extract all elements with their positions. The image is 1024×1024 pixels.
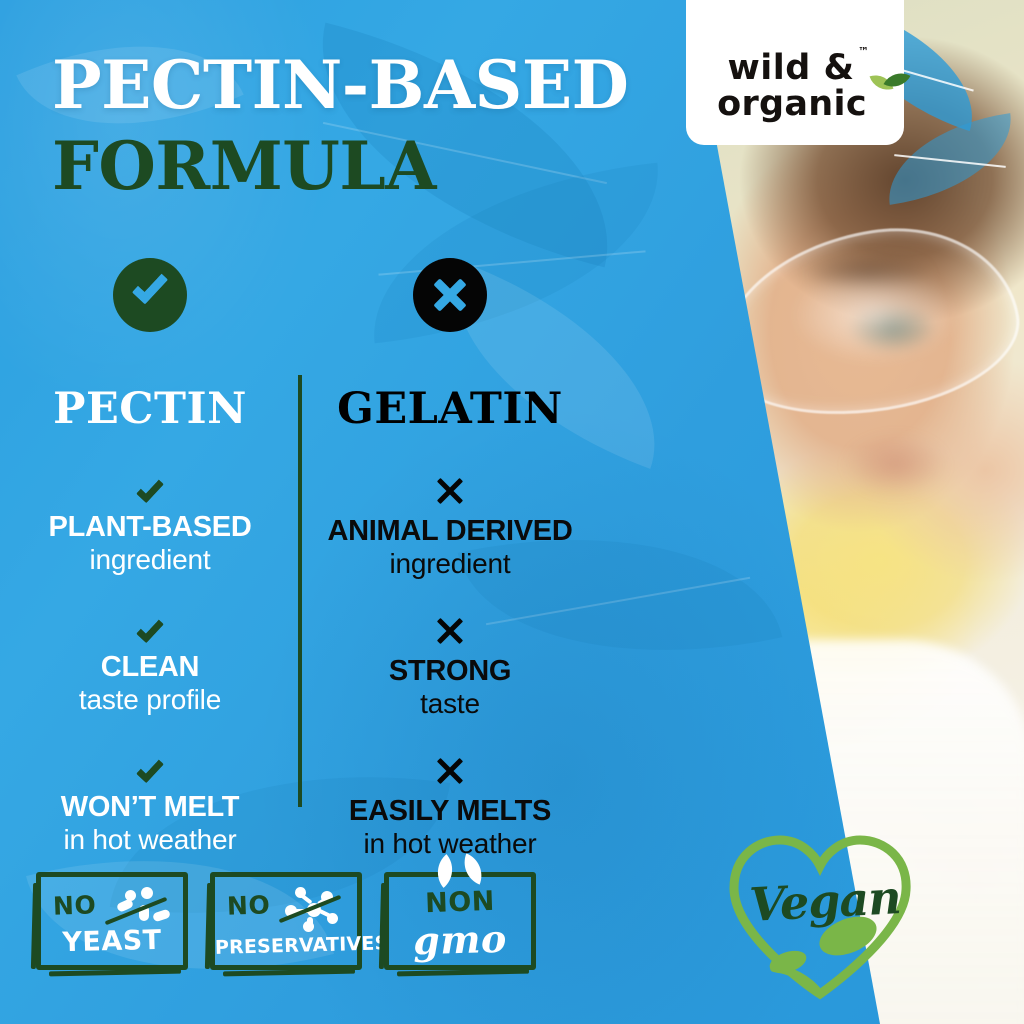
seal-no-preservatives: NO PRESERVATIVES bbox=[210, 872, 362, 970]
gmo-leaf-left bbox=[428, 854, 462, 888]
column-divider bbox=[298, 375, 302, 807]
seal-label-yeast: YEAST bbox=[41, 924, 184, 959]
cell-gelatin-1: ANIMAL DERIVED ingredient bbox=[300, 464, 600, 580]
column-title-gelatin: GELATIN bbox=[337, 384, 563, 434]
cell-gelatin-3: EASILY MELTS in hot weather bbox=[300, 744, 600, 860]
row-3-left-sub: in hot weather bbox=[63, 824, 236, 856]
page-title: PECTIN-BASED FORMULA bbox=[52, 52, 672, 203]
row-1-right-sub: ingredient bbox=[390, 548, 511, 580]
seal-no-yeast: NO YEAST bbox=[36, 872, 188, 970]
row-1-left-sub: ingredient bbox=[90, 544, 211, 576]
seal-prefix-gmo: NON bbox=[389, 885, 532, 921]
check-icon bbox=[136, 615, 164, 644]
row-2-right-strong: STRONG bbox=[389, 656, 511, 688]
check-icon bbox=[136, 755, 164, 784]
column-title-pectin: PECTIN bbox=[53, 384, 247, 434]
no-preservatives-icon bbox=[277, 885, 343, 933]
vegan-label: Vegan bbox=[739, 870, 912, 933]
x-icon bbox=[435, 756, 465, 786]
yeast-cell-5 bbox=[152, 909, 171, 923]
column-gelatin: GELATIN bbox=[300, 258, 600, 434]
x-icon bbox=[435, 476, 465, 506]
row-3-right-strong: EASILY MELTS bbox=[349, 796, 551, 828]
logo-line-2-text: organic bbox=[717, 84, 867, 124]
headline-line-2: FORMULA bbox=[52, 131, 672, 202]
row-2-right-sub: taste bbox=[420, 688, 480, 720]
check-circle-icon bbox=[113, 258, 187, 332]
check-mark bbox=[132, 267, 168, 304]
row-3-left-strong: WON’T MELT bbox=[61, 792, 239, 824]
logo-line-2: organic bbox=[717, 87, 867, 123]
row-1-left-strong: PLANT-BASED bbox=[49, 512, 252, 544]
cell-pectin-3: WON’T MELT in hot weather bbox=[0, 744, 300, 860]
infographic-canvas: wild & ™ organic PECTIN-BASED FORMULA PE… bbox=[0, 0, 1024, 1024]
cell-pectin-1: PLANT-BASED ingredient bbox=[0, 464, 300, 580]
seal-prefix-preservatives: NO bbox=[227, 890, 271, 920]
certification-seals: NO YEAST NO bbox=[36, 872, 536, 970]
gmo-leaf-right bbox=[457, 853, 488, 884]
seal-non-gmo: NON gmo bbox=[384, 872, 536, 970]
row-1-right-strong: ANIMAL DERIVED bbox=[327, 516, 572, 548]
column-pectin: PECTIN bbox=[0, 258, 300, 434]
x-circle-icon bbox=[413, 258, 487, 332]
vegan-badge: Vegan bbox=[716, 826, 926, 1006]
check-icon bbox=[136, 475, 164, 504]
row-2-left-sub: taste profile bbox=[79, 684, 221, 716]
molecule-bond-4 bbox=[317, 908, 331, 918]
headline-line-1: PECTIN-BASED bbox=[52, 52, 672, 119]
logo-line-1: wild & ™ bbox=[727, 51, 854, 86]
molecule-bond-5 bbox=[307, 917, 313, 927]
yeast-cell-3 bbox=[141, 887, 153, 899]
logo-line-1-text: wild & bbox=[727, 48, 854, 88]
seal-prefix-yeast: NO bbox=[53, 890, 97, 920]
cell-pectin-2: CLEAN taste profile bbox=[0, 604, 300, 720]
cell-gelatin-2: STRONG taste bbox=[300, 604, 600, 720]
row-2-left-strong: CLEAN bbox=[101, 652, 199, 684]
non-gmo-leaves-icon bbox=[431, 855, 489, 881]
brand-logo-card[interactable]: wild & ™ organic bbox=[686, 0, 904, 145]
x-icon bbox=[435, 616, 465, 646]
comparison-table: PECTIN GELATIN PLANT-BASED ingredient bbox=[0, 258, 600, 860]
trademark-icon: ™ bbox=[858, 46, 870, 57]
seal-label-gmo: gmo bbox=[389, 921, 532, 959]
yeast-cell-2 bbox=[125, 890, 136, 901]
seal-label-preservatives: PRESERVATIVES bbox=[215, 933, 358, 959]
